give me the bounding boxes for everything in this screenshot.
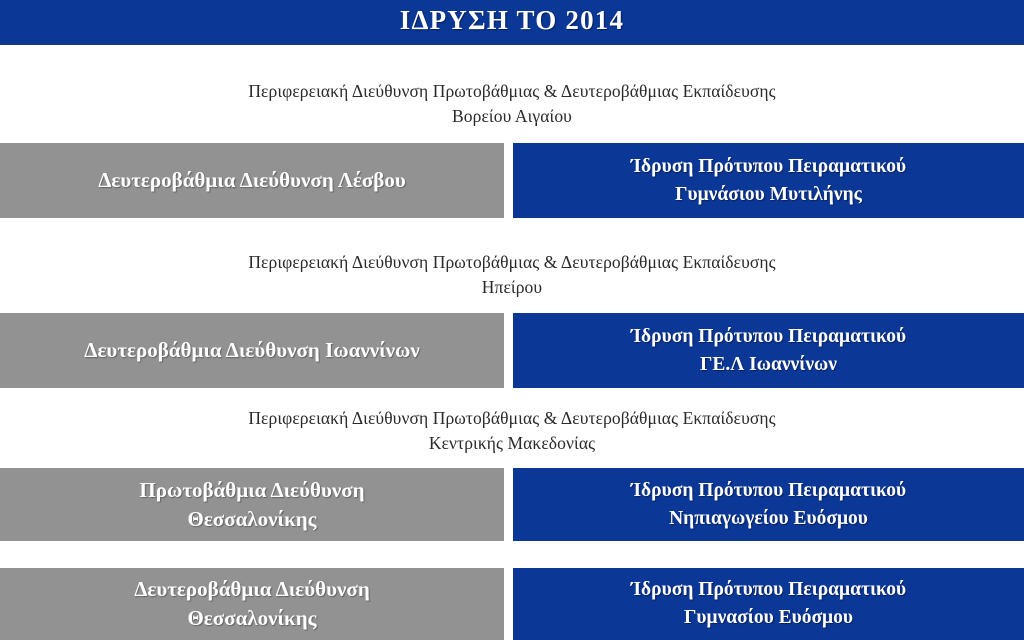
table-row: Δευτεροβάθμια Διεύθυνση Ιωαννίνων Ίδρυση…	[0, 313, 1024, 388]
header-bar: ΙΔΡΥΣΗ ΤΟ 2014	[0, 0, 1024, 45]
directorate-panel-ioannina[interactable]: Δευτεροβάθμια Διεύθυνση Ιωαννίνων	[0, 313, 504, 388]
action-label-line1: Ίδρυση Πρότυπου Πειραματικού	[631, 156, 906, 177]
region-caption-2: Περιφερειακή Διεύθυνση Πρωτοβάθμιας & Δε…	[0, 250, 1024, 300]
action-panel-thessaloniki-secondary[interactable]: Ίδρυση Πρότυπου Πειραματικού Γυμνασίου Ε…	[513, 568, 1024, 640]
action-label: Ίδρυση Πρότυπου Πειραματικού Νηπιαγωγείο…	[621, 477, 916, 533]
action-label-line2: Γυμνάσιου Μυτιλήνης	[631, 181, 906, 209]
region-caption-3-line2: Κεντρικής Μακεδονίας	[0, 431, 1024, 456]
action-label: Ίδρυση Πρότυπου Πειραματικού Γυμνάσιου Μ…	[621, 153, 916, 209]
table-row: Δευτεροβάθμια Διεύθυνση Θεσσαλονίκης Ίδρ…	[0, 568, 1024, 640]
directorate-panel-thessaloniki-primary[interactable]: Πρωτοβάθμια Διεύθυνση Θεσσαλονίκης	[0, 468, 504, 541]
action-label-line1: Ίδρυση Πρότυπου Πειραματικού	[631, 480, 906, 501]
action-label-line1: Ίδρυση Πρότυπου Πειραματικού	[631, 579, 906, 600]
directorate-label-line2: Θεσσαλονίκης	[139, 505, 364, 534]
directorate-label: Δευτεροβάθμια Διεύθυνση Ιωαννίνων	[74, 336, 429, 365]
region-caption-3-line1: Περιφερειακή Διεύθυνση Πρωτοβάθμιας & Δε…	[248, 408, 775, 428]
region-caption-2-line2: Ηπείρου	[0, 275, 1024, 300]
action-label: Ίδρυση Πρότυπου Πειραματικού ΓΕ.Λ Ιωαννί…	[621, 323, 916, 379]
directorate-panel-thessaloniki-secondary[interactable]: Δευτεροβάθμια Διεύθυνση Θεσσαλονίκης	[0, 568, 504, 640]
region-caption-1: Περιφερειακή Διεύθυνση Πρωτοβάθμιας & Δε…	[0, 79, 1024, 129]
action-label-line1: Ίδρυση Πρότυπου Πειραματικού	[631, 326, 906, 347]
directorate-label-line2: Θεσσαλονίκης	[134, 604, 370, 633]
directorate-label: Πρωτοβάθμια Διεύθυνση Θεσσαλονίκης	[129, 476, 374, 534]
directorate-label-line1: Πρωτοβάθμια Διεύθυνση	[139, 478, 364, 502]
directorate-label: Δευτεροβάθμια Διεύθυνση Θεσσαλονίκης	[124, 575, 380, 633]
directorate-label-line1: Δευτεροβάθμια Διεύθυνση	[134, 577, 370, 601]
action-panel-lesvos[interactable]: Ίδρυση Πρότυπου Πειραματικού Γυμνάσιου Μ…	[513, 143, 1024, 218]
action-label-line2: ΓΕ.Λ Ιωαννίνων	[631, 351, 906, 379]
region-caption-1-line2: Βορείου Αιγαίου	[0, 104, 1024, 129]
page-title: ΙΔΡΥΣΗ ΤΟ 2014	[0, 0, 1024, 43]
table-row: Πρωτοβάθμια Διεύθυνση Θεσσαλονίκης Ίδρυσ…	[0, 468, 1024, 541]
table-row: Δευτεροβάθμια Διεύθυνση Λέσβου Ίδρυση Πρ…	[0, 143, 1024, 218]
action-label-line2: Γυμνασίου Ευόσμου	[631, 604, 906, 632]
directorate-label-line1: Δευτεροβάθμια Διεύθυνση Ιωαννίνων	[84, 338, 419, 362]
region-caption-1-line1: Περιφερειακή Διεύθυνση Πρωτοβάθμιας & Δε…	[248, 81, 775, 101]
region-caption-2-line1: Περιφερειακή Διεύθυνση Πρωτοβάθμιας & Δε…	[248, 252, 775, 272]
directorate-label: Δευτεροβάθμια Διεύθυνση Λέσβου	[88, 166, 416, 195]
directorate-label-line1: Δευτεροβάθμια Διεύθυνση Λέσβου	[98, 168, 406, 192]
action-label-line2: Νηπιαγωγείου Ευόσμου	[631, 505, 906, 533]
action-panel-ioannina[interactable]: Ίδρυση Πρότυπου Πειραματικού ΓΕ.Λ Ιωαννί…	[513, 313, 1024, 388]
action-panel-thessaloniki-primary[interactable]: Ίδρυση Πρότυπου Πειραματικού Νηπιαγωγείο…	[513, 468, 1024, 541]
action-label: Ίδρυση Πρότυπου Πειραματικού Γυμνασίου Ε…	[621, 576, 916, 632]
directorate-panel-lesvos[interactable]: Δευτεροβάθμια Διεύθυνση Λέσβου	[0, 143, 504, 218]
region-caption-3: Περιφερειακή Διεύθυνση Πρωτοβάθμιας & Δε…	[0, 406, 1024, 456]
